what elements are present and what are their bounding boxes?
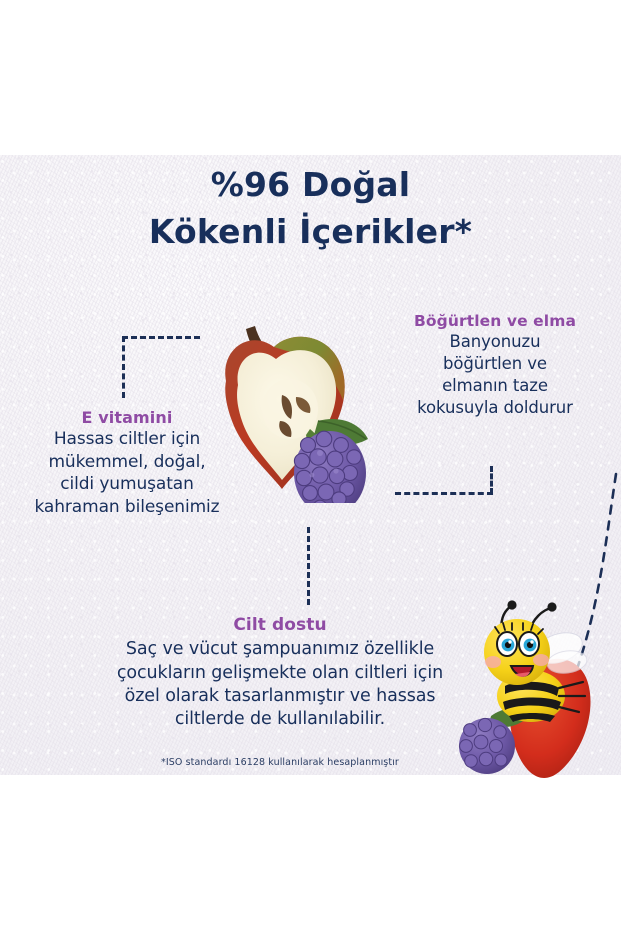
callout-heading-bogurtlen-ve-elma: Böğürtlen ve elma: [378, 312, 612, 331]
callout-e-vitamini: E vitamini Hassas ciltler için mükemmel,…: [0, 408, 256, 518]
callout-cilt-dostu: Cilt dostu Saç ve vücut şampuanımız özel…: [60, 615, 500, 731]
callout-heading-e-vitamini: E vitamini: [0, 408, 256, 428]
body-line: çocukların gelişmekte olan ciltleri için: [60, 662, 500, 685]
body-line: elmanın taze: [378, 375, 612, 397]
callout-bogurtlen-ve-elma: Böğürtlen ve elma Banyonuzu böğürtlen ve…: [378, 312, 612, 419]
body-line: özel olarak tasarlanmıştır ve hassas: [60, 685, 500, 708]
body-line: mükemmel, doğal,: [0, 451, 256, 474]
bee-on-apple-illustration: [455, 600, 621, 780]
body-line: kahraman bileşenimiz: [0, 496, 256, 519]
body-line: böğürtlen ve: [378, 353, 612, 375]
callout-body-bogurtlen-ve-elma: Banyonuzu böğürtlen ve elmanın taze koku…: [378, 331, 612, 419]
page-title-line1: %96 Doğal: [0, 165, 621, 204]
callout-body-cilt-dostu: Saç ve vücut şampuanımız özellikle çocuk…: [60, 638, 500, 731]
body-line: ciltlerde de kullanılabilir.: [60, 708, 500, 731]
dashed-connector-left-vertical: [122, 336, 125, 398]
callout-heading-cilt-dostu: Cilt dostu: [60, 615, 500, 636]
body-line: Banyonuzu: [378, 331, 612, 353]
body-line: kokusuyla doldurur: [378, 397, 612, 419]
dashed-connector-left-horizontal: [122, 336, 200, 339]
body-line: Saç ve vücut şampuanımız özellikle: [60, 638, 500, 661]
callout-body-e-vitamini: Hassas ciltler için mükemmel, doğal, cil…: [0, 428, 256, 518]
footnote-text: *ISO standardı 16128 kullanılarak hesapl…: [60, 757, 500, 768]
dashed-connector-center-vertical: [307, 527, 310, 605]
body-line: cildi yumuşatan: [0, 473, 256, 496]
page-title-line2: Kökenli İçerikler*: [0, 212, 621, 251]
infographic-canvas: %96 Doğal Kökenli İçerikler*: [0, 0, 621, 931]
dashed-connector-right-vertical: [490, 466, 493, 494]
dashed-connector-right-horizontal: [395, 492, 493, 495]
body-line: Hassas ciltler için: [0, 428, 256, 451]
